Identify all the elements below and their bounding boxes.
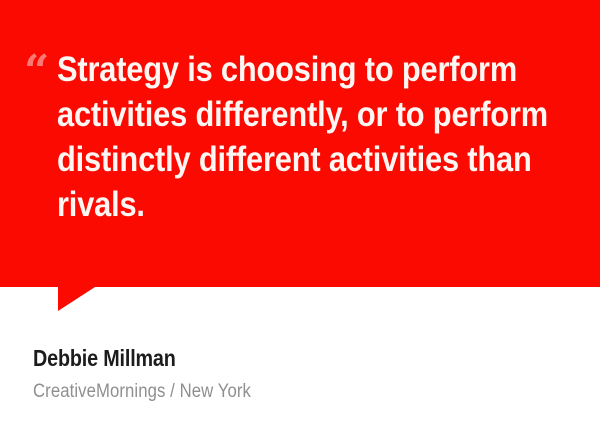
quote-body: “ Strategy is choosing to perform activi… (57, 47, 567, 227)
quote-card: “ Strategy is choosing to perform activi… (0, 0, 600, 441)
speaker-name: Debbie Millman (33, 344, 489, 372)
attribution: Debbie Millman CreativeMornings / New Yo… (33, 344, 563, 404)
quote-line: distinctly different activities than (57, 137, 506, 182)
speech-bubble-tail (58, 287, 95, 311)
speaker-source: CreativeMornings / New York (33, 380, 499, 404)
quote-line: Strategy is choosing to perform (57, 47, 506, 92)
open-quote-icon: “ (24, 50, 47, 94)
quote-line: rivals. (57, 182, 506, 227)
quote-line: activities differently, or to perform (57, 92, 506, 137)
